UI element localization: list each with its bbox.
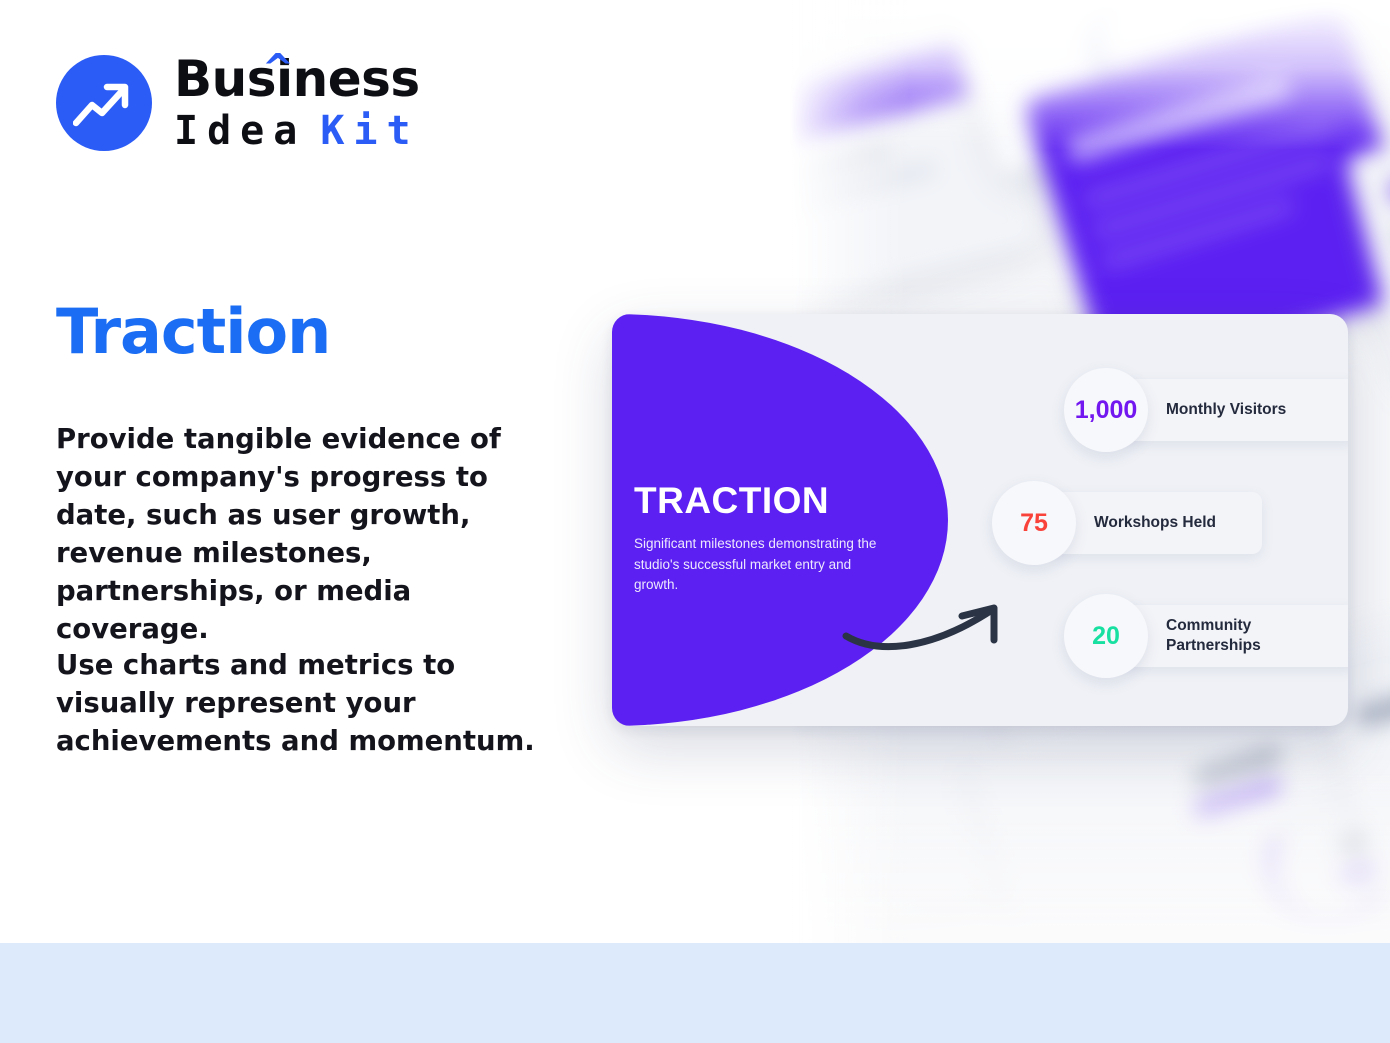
brand-name-bottom-dark: Idea (174, 111, 306, 151)
left-content-column: Business ^ Idea Kit Traction Provide tan… (56, 0, 596, 943)
metric-value-circle: 75 (992, 481, 1076, 565)
metric-row: 75 Workshops Held (992, 481, 1262, 565)
brand-caret-accent-icon: ^ (262, 49, 293, 87)
metric-label-bar: Monthly Visitors (1122, 379, 1348, 441)
card-heading: TRACTION (634, 480, 829, 522)
brand-name-top-text: Business (174, 50, 420, 108)
metric-value-circle: 1,000 (1064, 368, 1148, 452)
footer-band (0, 943, 1390, 1043)
page-title: Traction (56, 295, 330, 368)
brand-name-bottom-accent: Kit (320, 111, 419, 151)
metric-label: Monthly Visitors (1166, 400, 1286, 420)
body-paragraph-2: Use charts and metrics to visually repre… (56, 647, 568, 761)
metric-label-bar: Workshops Held (1050, 492, 1262, 554)
brand-logo: Business ^ Idea Kit (56, 54, 420, 151)
traction-slide-card: TRACTION Significant milestones demonstr… (612, 314, 1348, 726)
metric-row: 20 Community Partnerships (1064, 594, 1348, 678)
metric-label: Community Partnerships (1166, 616, 1330, 655)
brand-wordmark: Business ^ Idea Kit (174, 54, 420, 151)
metric-label-bar: Community Partnerships (1122, 605, 1348, 667)
metric-row: 1,000 Monthly Visitors (1064, 368, 1348, 452)
metric-value: 75 (1020, 509, 1048, 538)
metric-label: Workshops Held (1094, 513, 1216, 533)
metric-value-circle: 20 (1064, 594, 1148, 678)
background-dot (1386, 175, 1390, 207)
curved-growth-arrow-icon (842, 592, 1022, 662)
metric-value: 1,000 (1075, 396, 1138, 425)
card-subheading: Significant milestones demonstrating the… (634, 534, 892, 596)
trend-up-arrow-icon (56, 55, 152, 151)
body-paragraph-1: Provide tangible evidence of your compan… (56, 421, 568, 649)
background-bar (1100, 198, 1295, 270)
brand-name-top: Business ^ (174, 54, 420, 104)
metric-value: 20 (1092, 622, 1120, 651)
slide-preview-page: Business ^ Idea Kit Traction Provide tan… (0, 0, 1390, 1043)
brand-name-bottom: Idea Kit (174, 111, 420, 151)
